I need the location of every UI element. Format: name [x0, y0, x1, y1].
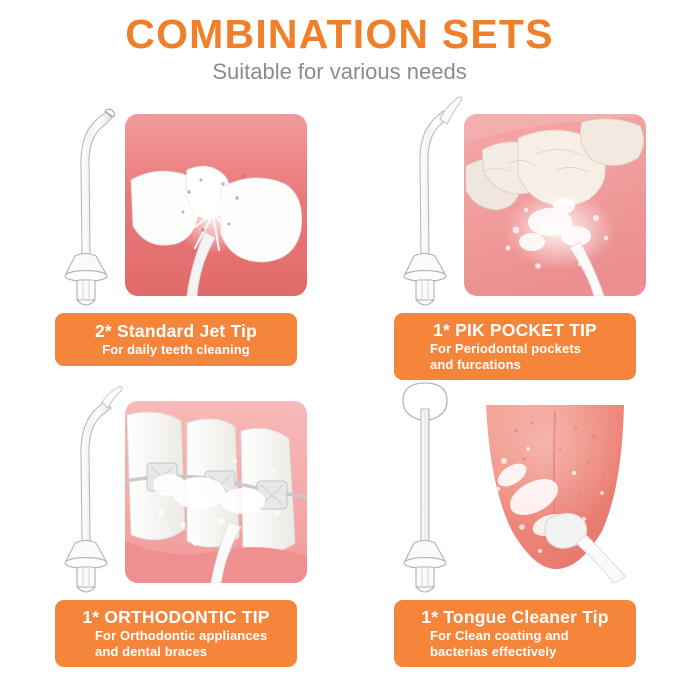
tapered-brush-orthodontic-tip-icon: [48, 375, 128, 605]
tongue-cleaning-illustration: [464, 401, 646, 583]
label-subtitle-line-2: and furcations: [404, 357, 626, 373]
label-orthodontic-tip[interactable]: 1* ORTHODONTIC TIP For Orthodontic appli…: [55, 600, 297, 667]
page-title: COMBINATION SETS: [0, 12, 679, 56]
label-subtitle-line-1: For daily teeth cleaning: [65, 342, 287, 358]
spoon-loop-tongue-cleaner-tip-icon: [387, 375, 467, 605]
product-card-tongue-cleaner-tip[interactable]: 1* Tongue Cleaner Tip For Clean coating …: [339, 373, 679, 667]
label-title: 1* ORTHODONTIC TIP: [65, 606, 287, 628]
label-title: 1* PIK POCKET TIP: [404, 319, 626, 341]
label-title: 1* Tongue Cleaner Tip: [404, 606, 626, 628]
label-subtitle-line-1: For Orthodontic appliances: [65, 628, 287, 644]
label-subtitle-line-1: For Clean coating and: [404, 628, 626, 644]
soft-rubber-pocket-tip-icon: [387, 88, 467, 318]
page-subtitle: Suitable for various needs: [0, 59, 679, 85]
product-card-standard-jet-tip[interactable]: 2* Standard Jet Tip For daily teeth clea…: [0, 86, 340, 380]
periodontal-pocket-illustration: [464, 114, 646, 296]
label-title: 2* Standard Jet Tip: [65, 320, 287, 342]
label-subtitle-line-1: For Periodontal pockets: [404, 341, 626, 357]
header: COMBINATION SETS Suitable for various ne…: [0, 0, 679, 92]
curved-jet-tip-icon: [48, 88, 128, 318]
label-subtitle-line-2: and dental braces: [65, 644, 287, 660]
braces-brackets-illustration: [125, 401, 307, 583]
label-tongue-cleaner-tip[interactable]: 1* Tongue Cleaner Tip For Clean coating …: [394, 600, 636, 667]
label-subtitle-line-2: bacterias effectively: [404, 644, 626, 660]
label-pik-pocket-tip[interactable]: 1* PIK POCKET TIP For Periodontal pocket…: [394, 313, 636, 380]
product-card-orthodontic-tip[interactable]: 1* ORTHODONTIC TIP For Orthodontic appli…: [0, 373, 340, 667]
product-card-pik-pocket-tip[interactable]: 1* PIK POCKET TIP For Periodontal pocket…: [339, 86, 679, 380]
teeth-water-spray-illustration: [125, 114, 307, 296]
label-standard-jet-tip[interactable]: 2* Standard Jet Tip For daily teeth clea…: [55, 313, 297, 366]
